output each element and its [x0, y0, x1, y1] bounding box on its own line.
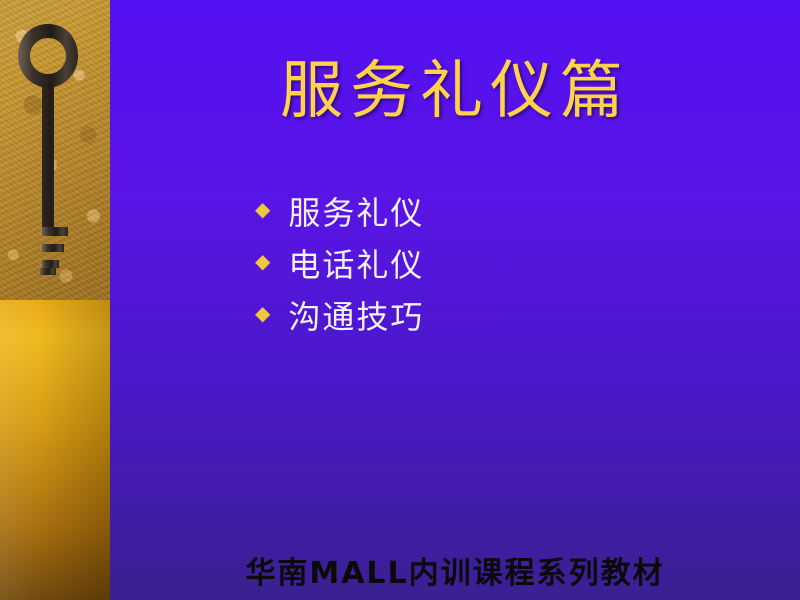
slide-title: 服务礼仪篇 — [110, 56, 800, 125]
list-item: ◆ 沟通技巧 — [255, 289, 715, 341]
list-item-label: 沟通技巧 — [288, 292, 424, 338]
list-item-label: 服务礼仪 — [288, 188, 424, 234]
diamond-bullet-icon: ◆ — [255, 199, 272, 219]
list-item: ◆ 电话礼仪 — [255, 237, 715, 289]
list-item-label: 电话礼仪 — [288, 240, 424, 286]
diamond-bullet-icon: ◆ — [255, 251, 272, 271]
diamond-bullet-icon: ◆ — [255, 303, 272, 323]
gold-gradient-panel — [0, 300, 110, 600]
left-decorative-band — [0, 0, 110, 600]
bullet-list: ◆ 服务礼仪 ◆ 电话礼仪 ◆ 沟通技巧 — [255, 185, 715, 341]
presentation-slide: 服务礼仪篇 ◆ 服务礼仪 ◆ 电话礼仪 ◆ 沟通技巧 华南MALL内训课程系列教… — [0, 0, 800, 600]
key-icon — [12, 22, 84, 277]
list-item: ◆ 服务礼仪 — [255, 185, 715, 237]
slide-footer: 华南MALL内训课程系列教材 — [110, 548, 800, 592]
